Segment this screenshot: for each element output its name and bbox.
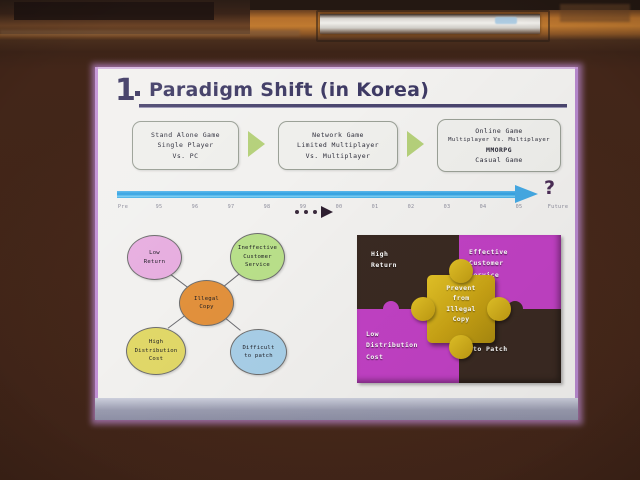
timeline-tick-label: 01 (372, 204, 379, 210)
stage-arrow-icon (407, 131, 424, 157)
timeline-tick-label: 04 (480, 204, 487, 210)
slide-number: 1 (115, 73, 135, 108)
bubble-ineffective-customer-service: Ineffective Customer Service (230, 233, 285, 281)
timeline-bar (117, 191, 517, 198)
slide-edge-fringe-left (95, 67, 98, 420)
bubble-label: High (149, 338, 163, 346)
slide-edge-fringe-right (575, 67, 578, 420)
stage-box-stand-alone-game: Stand Alone Game Single Player Vs. PC (132, 121, 239, 170)
problem-bubble-diagram: Low Return Ineffective Customer Service … (113, 227, 303, 382)
puzzle-center-line: from (427, 293, 495, 303)
stage-line: Vs. PC (173, 151, 199, 161)
transition-dot (295, 210, 299, 214)
stage-line: Multiplayer Vs. Multiplayer (448, 136, 550, 145)
bubble-label: Ineffective (238, 244, 277, 252)
timeline-tick-label: Pre (118, 204, 128, 210)
puzzle-quadrant-label-high-return: High Return (371, 249, 397, 272)
title-underline-shadow (139, 107, 567, 108)
bubble-label: Service (245, 261, 270, 269)
puzzle-center-knob-top (449, 259, 473, 283)
bubble-high-distribution-cost: High Distribution Cost (126, 327, 186, 375)
stage-line: Stand Alone Game (151, 130, 220, 140)
timeline-tick-label: 97 (228, 204, 235, 210)
transition-arrow-icon (321, 206, 333, 218)
bubble-label: Low (149, 249, 160, 257)
puzzle-center-piece: Prevent from Illegal Copy (409, 257, 513, 361)
bubble-label: Customer (243, 253, 272, 261)
right-wall-object (560, 4, 630, 22)
stage-line: Vs. Multiplayer (306, 151, 371, 161)
timeline-question-mark: ? (544, 177, 555, 199)
puzzle-tab (383, 301, 399, 317)
puzzle-center-line: Illegal (427, 304, 495, 314)
timeline-tick-label: 05 (516, 204, 523, 210)
stage-box-network-game: Network Game Limited Multiplayer Vs. Mul… (278, 121, 398, 170)
solution-puzzle-diagram: High Return Effective Customer Service L… (357, 235, 561, 383)
transition-dot (313, 210, 317, 214)
bubble-illegal-copy: Illegal Copy (179, 280, 234, 326)
bubble-label: Difficult (242, 344, 274, 352)
bubble-low-return: Low Return (127, 235, 182, 280)
bubble-label: Return (144, 258, 165, 266)
timeline-tick-label: Future (548, 204, 569, 210)
stage-box-online-game: Online Game Multiplayer Vs. Multiplayer … (437, 119, 561, 172)
puzzle-center-label: Prevent from Illegal Copy (427, 283, 495, 325)
page-title: Paradigm Shift (in Korea) (149, 79, 429, 101)
bubble-label: to patch (244, 352, 273, 360)
puzzle-label-line: High (371, 249, 397, 260)
timeline-tick-label: 02 (408, 204, 415, 210)
timeline-tick-label: 96 (192, 204, 199, 210)
puzzle-label-line: Return (371, 260, 397, 271)
bubble-label: Illegal (194, 295, 219, 303)
bubble-label: Cost (149, 355, 163, 363)
puzzle-center-line: Prevent (427, 283, 495, 293)
stage-line: Network Game (312, 130, 364, 140)
bubble-difficult-to-patch: Difficult to patch (230, 329, 287, 375)
left-shelf-object-inner (14, 2, 214, 20)
stage-line: Limited Multiplayer (297, 140, 379, 150)
stage-line-mmorpg: MMORPG (486, 145, 512, 155)
slide-number-dot (135, 91, 140, 96)
timeline-tick-label: 95 (156, 204, 163, 210)
timeline-tick-label: 03 (444, 204, 451, 210)
stage-line: Online Game (475, 126, 522, 136)
timeline-arrow-icon (515, 185, 538, 203)
bubble-label: Copy (199, 303, 213, 311)
puzzle-center-knob-bottom (449, 335, 473, 359)
stage-line: Casual Game (475, 155, 522, 165)
transition-dot (304, 210, 308, 214)
transition-indicator (295, 205, 355, 221)
presentation-slide: 1 Paradigm Shift (in Korea) Stand Alone … (95, 67, 578, 420)
slide-edge-fringe-top (95, 67, 578, 69)
timeline-tick-label: 98 (264, 204, 271, 210)
stage-line: Single Player (157, 140, 213, 150)
puzzle-center-line: Copy (427, 314, 495, 324)
slide-bottom-edge (95, 398, 578, 420)
bubble-label: Distribution (135, 347, 178, 355)
stage-arrow-icon (248, 131, 265, 157)
left-shelf-object (0, 0, 250, 34)
